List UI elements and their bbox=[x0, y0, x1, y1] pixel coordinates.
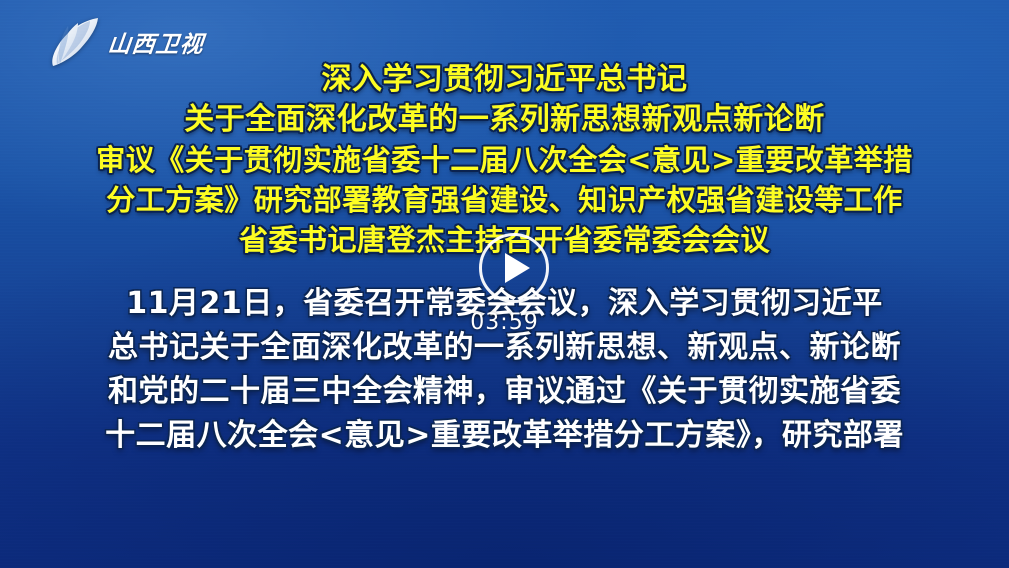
article-body: 11月21日，省委召开常委会会议，深入学习贯彻习近平 总书记关于全面深化改革的一… bbox=[0, 282, 1009, 458]
article-line-4: 十二届八次全会<意见>重要改革举措分工方案》，研究部署 bbox=[0, 414, 1009, 458]
headline-line-1: 深入学习贯彻习近平总书记 bbox=[0, 60, 1009, 100]
headline-line-3: 审议《关于贯彻实施省委十二届八次全会<意见>重要改革举措 bbox=[0, 140, 1009, 180]
channel-logo-text: 山西卫视 bbox=[106, 25, 206, 59]
play-icon bbox=[505, 253, 530, 283]
headline: 深入学习贯彻习近平总书记 关于全面深化改革的一系列新思想新观点新论断 审议《关于… bbox=[0, 60, 1009, 260]
video-frame: 山西卫视 深入学习贯彻习近平总书记 关于全面深化改革的一系列新思想新观点新论断 … bbox=[0, 0, 1009, 568]
headline-line-4: 分工方案》研究部署教育强省建设、知识产权强省建设等工作 bbox=[0, 180, 1009, 220]
video-timecode: 03:59 bbox=[0, 310, 1009, 335]
article-line-3: 和党的二十届三中全会精神，审议通过《关于贯彻实施省委 bbox=[0, 370, 1009, 414]
play-button[interactable] bbox=[479, 233, 549, 303]
headline-line-2: 关于全面深化改革的一系列新思想新观点新论断 bbox=[0, 100, 1009, 140]
